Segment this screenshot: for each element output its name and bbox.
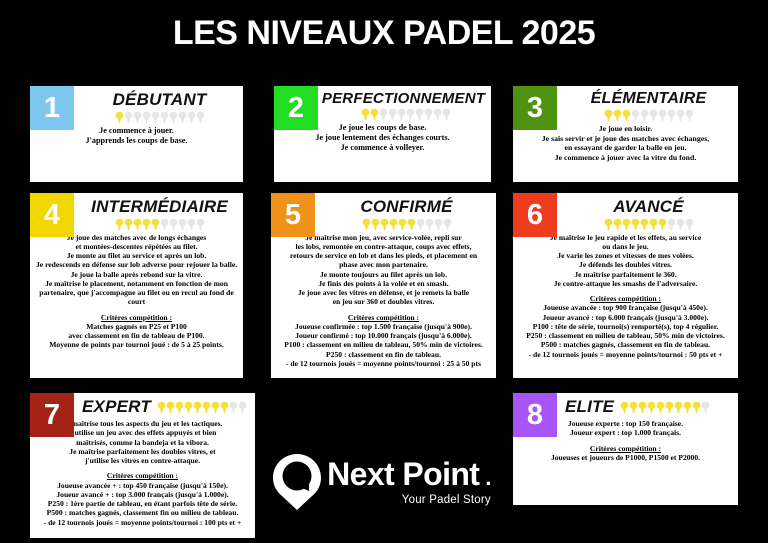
- map-pin-icon: [271, 453, 323, 511]
- criteria-line: Joueuse avancée + : top 450 française (j…: [36, 481, 249, 490]
- criteria-line: P250 : classement en fin de tableau.: [277, 350, 490, 359]
- level-name-5: CONFIRMÉ: [317, 197, 496, 217]
- description-line: Je joue avec les vitres en défense, et j…: [277, 288, 490, 297]
- criteria-line: Matches gagnés en P25 et P100: [36, 322, 237, 331]
- criteria-line: P250 : 1ère partie de tableau, en étant …: [36, 499, 249, 508]
- description-line: Je finis des points à la volée et en sma…: [277, 279, 490, 288]
- level-card-7: 7 EXPERT Je maîtrise tous les aspects du…: [30, 393, 255, 538]
- description-line: Je maîtrise parfaitement les doubles vit…: [36, 447, 249, 456]
- level-card-5: 5 CONFIRMÉ Je maîtrise mon jeu, avec ser…: [271, 193, 496, 378]
- description-line: Je commence à jouer avec la vitre du fon…: [519, 153, 732, 163]
- description-line: J'apprends les coups de base.: [36, 136, 237, 146]
- criteria-line: - de 12 tournois joués = moyenne points/…: [519, 350, 732, 359]
- level-card-6: 6 AVANCÉ Je maîtrise le jeu rapide et le…: [513, 193, 738, 378]
- description-line: Je maîtrise parfaitement le 360.: [519, 270, 732, 279]
- level-rating-pins-7: [157, 401, 247, 414]
- level-number-badge-7: 7: [30, 393, 74, 437]
- card-body-4: Je joue des matches avec de longs échang…: [30, 231, 243, 354]
- description-line: maîtrisés, comme la bandeja et la vibora…: [36, 438, 249, 447]
- level-rating-pins-6: [559, 218, 738, 231]
- card-body-6: Je maîtrise le jeu rapide et les effets,…: [513, 231, 738, 363]
- criteria-line: Joueur avancé : top 6.000 français (jusq…: [519, 313, 732, 322]
- description-line: et montées-descentes répétées au filet.: [36, 242, 237, 251]
- level-card-4: 4 INTERMÉDIAIRE Je joue des matches avec…: [30, 193, 243, 378]
- level-rating-pins-1: [76, 111, 243, 124]
- description-line: Je varie les zones et vitesses de mes vo…: [519, 251, 732, 260]
- level-card-2: 2 PERFECTIONNEMENT Je joue les coups de …: [274, 86, 491, 182]
- poster-root: LES NIVEAUX PADEL 2025 1 DÉBUTANT Je com…: [0, 0, 768, 543]
- card-body-5: Je maîtrise mon jeu, avec service-volée,…: [271, 231, 496, 373]
- description-line: les lobs, remontée en contre-attaque, co…: [277, 242, 490, 251]
- description-line: Je sais servir et je joue des matches av…: [519, 134, 732, 144]
- criteria-line: P250 : classement en milieu de tableau, …: [519, 331, 732, 340]
- criteria-line: Joueur confirmé : top 10.000 français (j…: [277, 331, 490, 340]
- criteria-line: - de 12 tournois joués = moyenne points/…: [36, 518, 249, 527]
- description-line: ou dans le jeu.: [519, 242, 732, 251]
- description-line: phase avec mon partenaire.: [277, 260, 490, 269]
- description-line: court: [36, 297, 237, 306]
- level-rating-pins-3: [559, 109, 738, 122]
- description-line: Je commence à volleyer.: [280, 143, 485, 153]
- description-line: retours de service en lob et dans les pi…: [277, 251, 490, 260]
- level-name-3: ÉLÉMENTAIRE: [559, 90, 738, 108]
- level-rating-pins-5: [317, 218, 496, 231]
- description-line: Je joue la balle après rebond sur la vit…: [36, 270, 237, 279]
- criteria-line: Joueuses et joueurs de P1000, P1500 et P…: [519, 453, 732, 462]
- criteria-title: Critères compétition :: [519, 294, 732, 303]
- description-line: Je contre-attaque les smashs de l'advers…: [519, 279, 732, 288]
- brand-name-text: Next Point: [327, 456, 479, 492]
- level-number-badge-6: 6: [513, 193, 557, 237]
- description-line: en jeu sur 360 et doubles vitres.: [277, 297, 490, 306]
- criteria-line: P100 : classement en milieu de tableau, …: [277, 340, 490, 349]
- level-name-1: DÉBUTANT: [76, 90, 243, 110]
- page-title: LES NIVEAUX PADEL 2025: [0, 14, 768, 53]
- criteria-title: Critères compétition :: [277, 313, 490, 322]
- level-name-4: INTERMÉDIAIRE: [76, 197, 243, 217]
- criteria-line: Moyenne de points par tournoi joué : de …: [36, 340, 237, 349]
- level-card-1: 1 DÉBUTANT Je commence à jouer.J'apprend…: [30, 86, 243, 182]
- level-rating-pins-4: [76, 218, 243, 231]
- criteria-title: Critères compétition :: [519, 444, 732, 453]
- brand-tagline: Your Padel Story: [327, 495, 491, 507]
- level-number-badge-8: 8: [513, 393, 557, 437]
- level-card-8: 8 ELITE Joueuse experte : top 150 frança…: [513, 393, 738, 505]
- level-name-2: PERFECTIONNEMENT: [316, 90, 491, 107]
- brand-name: Next Point.: [327, 458, 491, 490]
- level-number-badge-2: 2: [274, 86, 318, 130]
- description-line: Je joue lentement des échanges courts.: [280, 133, 485, 143]
- criteria-title: Critères compétition :: [36, 471, 249, 480]
- description-line: Je monte au filet au service et après un…: [36, 251, 237, 260]
- description-line: Je défends les doubles vitres.: [519, 260, 732, 269]
- brand-dot: .: [485, 465, 491, 490]
- criteria-line: P100 : tête de série, tournoi(s) remport…: [519, 322, 732, 331]
- criteria-line: P500 : matches gagnés, classement fin ou…: [36, 508, 249, 517]
- criteria-line: P500 : matches gagnés, classement en fin…: [519, 340, 732, 349]
- level-rating-pins-2: [320, 108, 491, 121]
- criteria-line: Joueur avancé + : top 3.000 français (ju…: [36, 490, 249, 499]
- criteria-line: Joueuse confirmée : top 1.500 française …: [277, 322, 490, 331]
- level-number-badge-4: 4: [30, 193, 74, 237]
- description-line: Je maîtrise le placement, notamment en f…: [36, 279, 237, 288]
- level-name-6: AVANCÉ: [559, 197, 738, 217]
- level-rating-pins-8: [620, 401, 710, 414]
- level-number-badge-5: 5: [271, 193, 315, 237]
- criteria-line: - de 12 tournois joués = moyenne points/…: [277, 359, 490, 368]
- description-line: partenaire, que j'accompagne au filet ou…: [36, 288, 237, 297]
- description-line: Je redescends en défense sur lob adverse…: [36, 260, 237, 269]
- description-line: j'utilise les vitres en contre-attaque.: [36, 456, 249, 465]
- level-card-3: 3 ÉLÉMENTAIRE Je joue en loisir.Je sais …: [513, 86, 738, 182]
- criteria-line: Joueuse avancée : top 900 française (jus…: [519, 303, 732, 312]
- criteria-title: Critères compétition :: [36, 313, 237, 322]
- level-name-7: EXPERT: [82, 397, 151, 417]
- description-line: Je monte toujours au filet après un lob.: [277, 270, 490, 279]
- criteria-line: avec classement en fin de tableau de P10…: [36, 331, 237, 340]
- level-name-8: ELITE: [565, 397, 614, 417]
- brand-logo: Next Point. Your Padel Story: [274, 432, 488, 532]
- description-line: en essayant de garder la balle en jeu.: [519, 143, 732, 153]
- level-number-badge-3: 3: [513, 86, 557, 130]
- level-number-badge-1: 1: [30, 86, 74, 130]
